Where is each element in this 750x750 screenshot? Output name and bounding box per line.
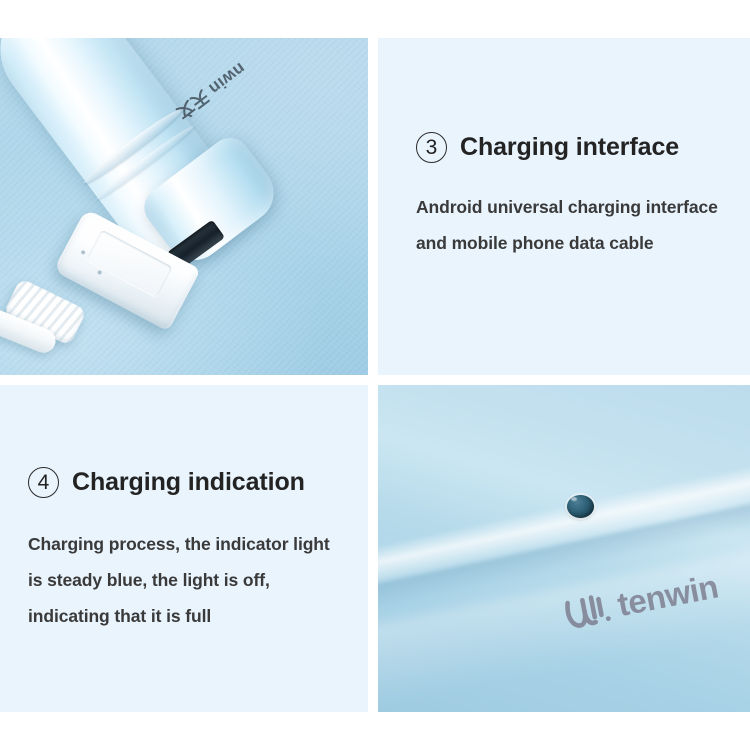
panel-charging-indication-text: 4 Charging indication Charging process, … — [0, 385, 368, 712]
charging-interface-heading: 3 Charging interface — [416, 132, 742, 163]
product-photo-usb-plugged: nwin 天文 — [0, 38, 368, 375]
step-number-badge-4: 4 — [28, 467, 59, 498]
connector-dot — [80, 250, 85, 255]
panel-charging-interface-text: 3 Charging interface Android universal c… — [378, 38, 750, 375]
charging-indication-description: Charging process, the indicator light is… — [28, 526, 360, 635]
charging-indication-title: Charging indication — [72, 468, 305, 497]
description-line: indicating that it is full — [28, 598, 360, 634]
charging-interface-title: Charging interface — [460, 133, 679, 162]
connector-dot — [97, 270, 102, 275]
led-indicator-light — [567, 495, 594, 518]
step-number-badge-3: 3 — [416, 132, 447, 163]
description-line: is steady blue, the light is off, — [28, 562, 360, 598]
charging-interface-description: Android universal charging interface and… — [416, 189, 742, 261]
description-line: and mobile phone data cable — [416, 225, 742, 261]
product-photo-led-indicator: tenwin — [378, 385, 750, 712]
charging-indication-heading: 4 Charging indication — [28, 467, 360, 498]
panel-charging-interface-photo: nwin 天文 — [0, 38, 368, 375]
description-line: Charging process, the indicator light — [28, 526, 360, 562]
charging-indication-content: 4 Charging indication Charging process, … — [28, 467, 360, 635]
description-line: Android universal charging interface — [416, 189, 742, 225]
panel-charging-indication-photo: tenwin — [378, 385, 750, 712]
charging-interface-content: 3 Charging interface Android universal c… — [416, 132, 742, 261]
infographic-sheet: nwin 天文 3 Charging interface Android uni… — [0, 0, 750, 750]
